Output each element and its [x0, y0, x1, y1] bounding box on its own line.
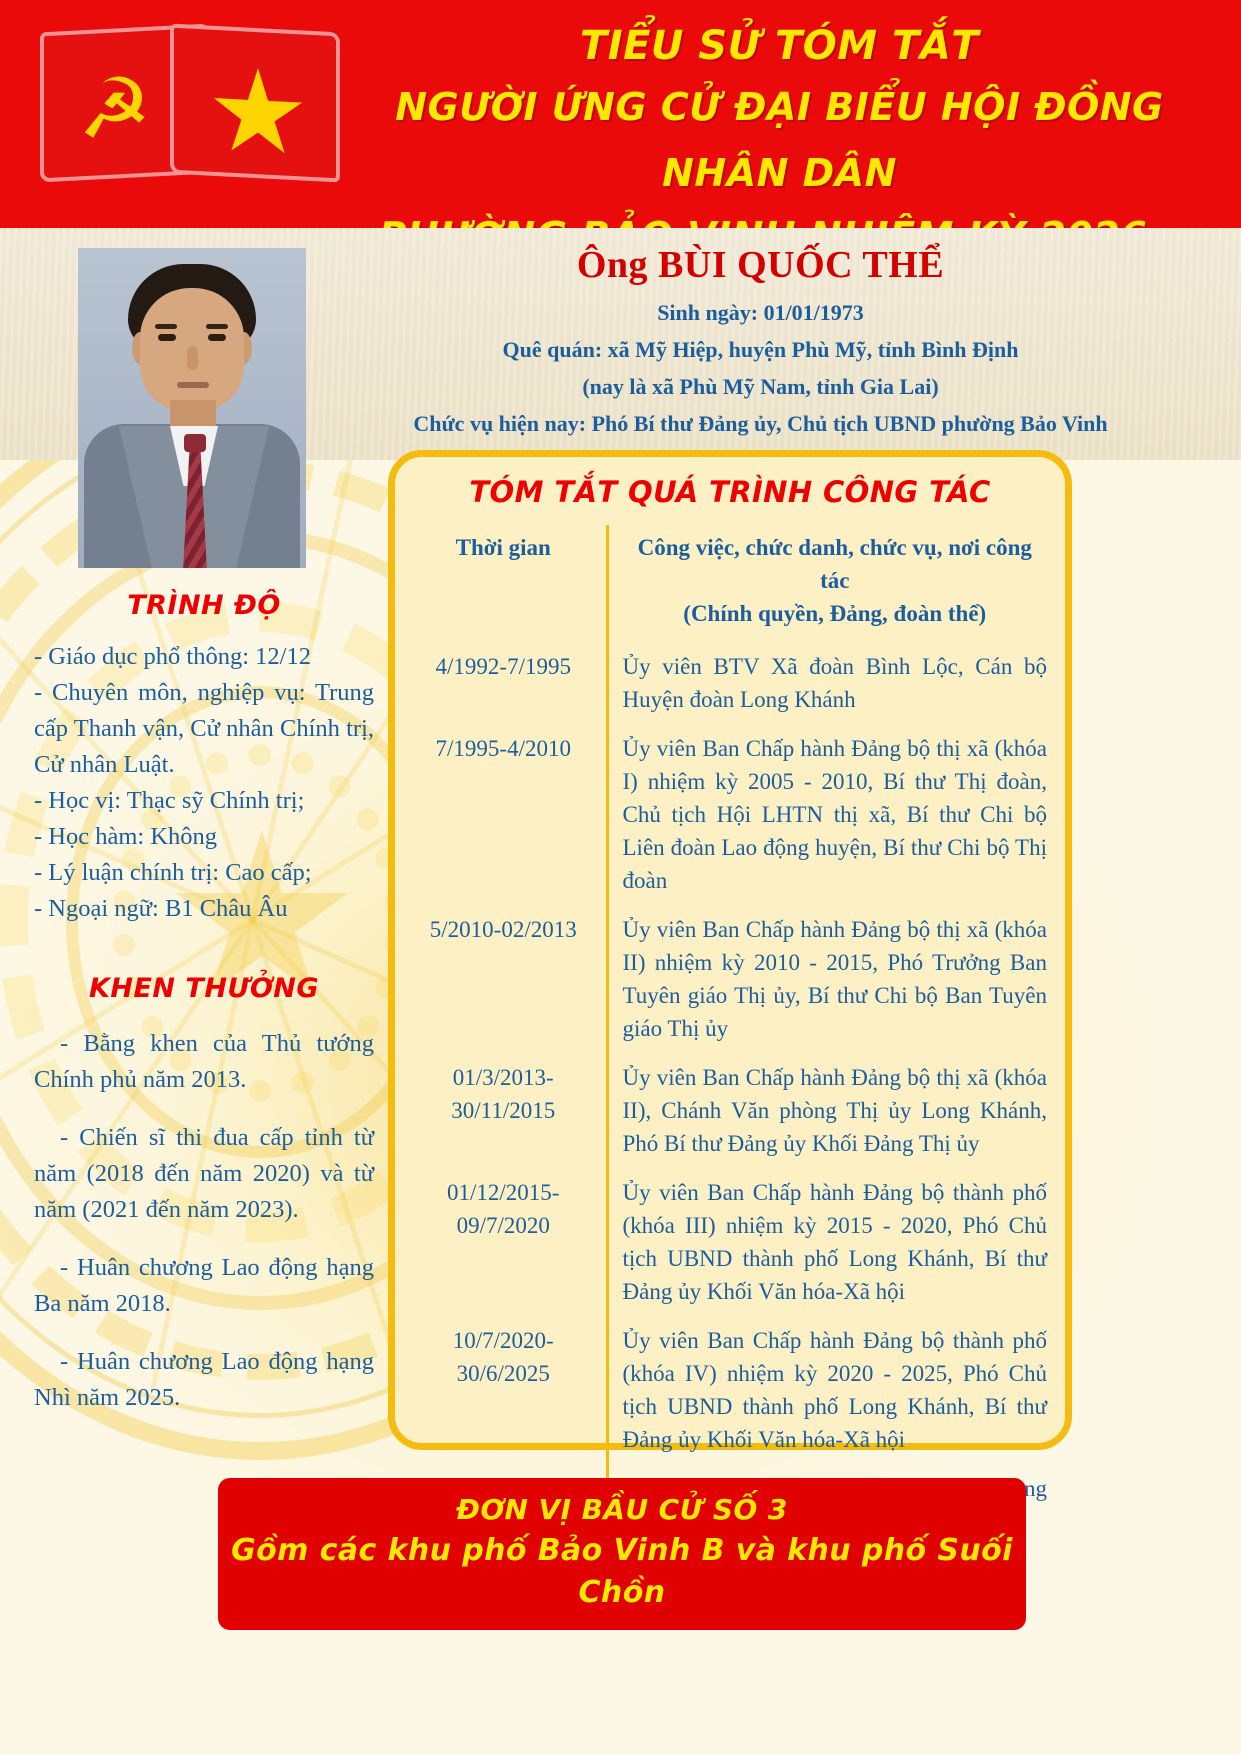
- candidate-info: Ông BÙI QUỐC THỂ Sinh ngày: 01/01/1973 Q…: [300, 236, 1221, 442]
- work-history-title: TÓM TẮT QUÁ TRÌNH CÔNG TÁC: [409, 475, 1051, 509]
- header-title-line-1: TIỂU SỬ TÓM TẮT: [330, 18, 1229, 74]
- awards-section-body: - Bằng khen của Thủ tướng Chính phủ năm …: [34, 1026, 374, 1416]
- electoral-unit-footer: ĐƠN VỊ BẦU CỬ SỐ 3 Gồm các khu phố Bảo V…: [218, 1478, 1026, 1630]
- poster-header: ☭ TIỂU SỬ TÓM TẮT NGƯỜI ỨNG CỬ ĐẠI BIỂU …: [0, 0, 1241, 228]
- awards-section-title: KHEN THƯỞNG: [34, 973, 374, 1004]
- header-title-line-3: PHƯỜNG BẢO VINH NHIỆM KỲ 2026 – 2031: [330, 206, 1229, 228]
- row-description: Ủy viên Ban Chấp hành Đảng bộ thị xã (kh…: [607, 1055, 1051, 1170]
- table-row: 7/1995-4/2010 Ủy viên Ban Chấp hành Đảng…: [409, 726, 1051, 907]
- row-description: Ủy viên Ban Chấp hành Đảng bộ thị xã (kh…: [607, 726, 1051, 907]
- award-item: - Huân chương Lao động hạng Ba năm 2018.: [34, 1250, 374, 1322]
- row-time: 10/7/2020-30/6/2025: [409, 1318, 607, 1466]
- footer-line-1: ĐƠN VỊ BẦU CỬ SỐ 3: [228, 1490, 1016, 1530]
- row-time: 7/1995-4/2010: [409, 726, 607, 907]
- row-description: Ủy viên Ban Chấp hành Đảng bộ thành phố …: [607, 1318, 1051, 1466]
- header-title-line-2: NGƯỜI ỨNG CỬ ĐẠI BIỂU HỘI ĐỒNG NHÂN DÂN: [330, 74, 1229, 206]
- poster-root: ☭ TIỂU SỬ TÓM TẮT NGƯỜI ỨNG CỬ ĐẠI BIỂU …: [0, 0, 1241, 1755]
- footer-line-2: Gồm các khu phố Bảo Vinh B và khu phố Su…: [228, 1530, 1016, 1614]
- award-item: - Chiến sĩ thi đua cấp tỉnh từ năm (2018…: [34, 1120, 374, 1228]
- award-item: - Huân chương Lao động hạng Nhì năm 2025…: [34, 1344, 374, 1416]
- education-item: - Học vị: Thạc sỹ Chính trị;: [34, 783, 374, 819]
- row-time: 5/2010-02/2013: [409, 907, 607, 1055]
- work-history-table: Thời gian Công việc, chức danh, chức vụ,…: [409, 525, 1051, 1548]
- row-description: Ủy viên BTV Xã đoàn Bình Lộc, Cán bộ Huy…: [607, 644, 1051, 726]
- table-header-row: Thời gian Công việc, chức danh, chức vụ,…: [409, 525, 1051, 644]
- candidate-birthdate: Sinh ngày: 01/01/1973: [300, 294, 1221, 331]
- candidate-current-position: Chức vụ hiện nay: Phó Bí thư Đảng ủy, Ch…: [300, 405, 1221, 442]
- candidate-name: Ông BÙI QUỐC THỂ: [300, 236, 1221, 294]
- table-row: 4/1992-7/1995 Ủy viên BTV Xã đoàn Bình L…: [409, 644, 1051, 726]
- row-description: Ủy viên Ban Chấp hành Đảng bộ thị xã (kh…: [607, 907, 1051, 1055]
- table-row: 10/7/2020-30/6/2025 Ủy viên Ban Chấp hàn…: [409, 1318, 1051, 1466]
- hammer-sickle-icon: ☭: [78, 67, 152, 153]
- left-column: TRÌNH ĐỘ - Giáo dục phổ thông: 12/12 - C…: [34, 590, 374, 1416]
- education-item: - Ngoại ngữ: B1 Châu Âu: [34, 891, 374, 927]
- education-section-body: - Giáo dục phổ thông: 12/12 - Chuyên môn…: [34, 639, 374, 927]
- national-flag-icon: [170, 24, 340, 183]
- candidate-hometown-current: (nay là xã Phù Mỹ Nam, tỉnh Gia Lai): [300, 368, 1221, 405]
- table-row: 01/3/2013-30/11/2015 Ủy viên Ban Chấp hà…: [409, 1055, 1051, 1170]
- row-time: 4/1992-7/1995: [409, 644, 607, 726]
- column-header-description-line-2: (Chính quyền, Đảng, đoàn thể): [623, 597, 1048, 630]
- education-item: - Học hàm: Không: [34, 819, 374, 855]
- award-item: - Bằng khen của Thủ tướng Chính phủ năm …: [34, 1026, 374, 1098]
- education-section-title: TRÌNH ĐỘ: [34, 590, 374, 621]
- education-item: - Lý luận chính trị: Cao cấp;: [34, 855, 374, 891]
- column-header-description-line-1: Công việc, chức danh, chức vụ, nơi công …: [623, 531, 1048, 597]
- column-header-time: Thời gian: [409, 525, 607, 644]
- candidate-portrait-photo: [78, 248, 306, 568]
- flags-group: ☭: [40, 28, 360, 188]
- table-row: 5/2010-02/2013 Ủy viên Ban Chấp hành Đản…: [409, 907, 1051, 1055]
- education-item: - Giáo dục phổ thông: 12/12: [34, 639, 374, 675]
- gold-star-icon: [212, 66, 304, 163]
- row-time: 01/3/2013-30/11/2015: [409, 1055, 607, 1170]
- work-history-panel: TÓM TẮT QUÁ TRÌNH CÔNG TÁC Thời gian Côn…: [388, 450, 1072, 1450]
- column-header-description: Công việc, chức danh, chức vụ, nơi công …: [607, 525, 1051, 644]
- row-time: 01/12/2015-09/7/2020: [409, 1170, 607, 1318]
- header-titles: TIỂU SỬ TÓM TẮT NGƯỜI ỨNG CỬ ĐẠI BIỂU HỘ…: [330, 18, 1229, 228]
- table-row: 01/12/2015-09/7/2020 Ủy viên Ban Chấp hà…: [409, 1170, 1051, 1318]
- row-description: Ủy viên Ban Chấp hành Đảng bộ thành phố …: [607, 1170, 1051, 1318]
- education-item: - Chuyên môn, nghiệp vụ: Trung cấp Thanh…: [34, 675, 374, 783]
- candidate-hometown: Quê quán: xã Mỹ Hiệp, huyện Phù Mỹ, tỉnh…: [300, 331, 1221, 368]
